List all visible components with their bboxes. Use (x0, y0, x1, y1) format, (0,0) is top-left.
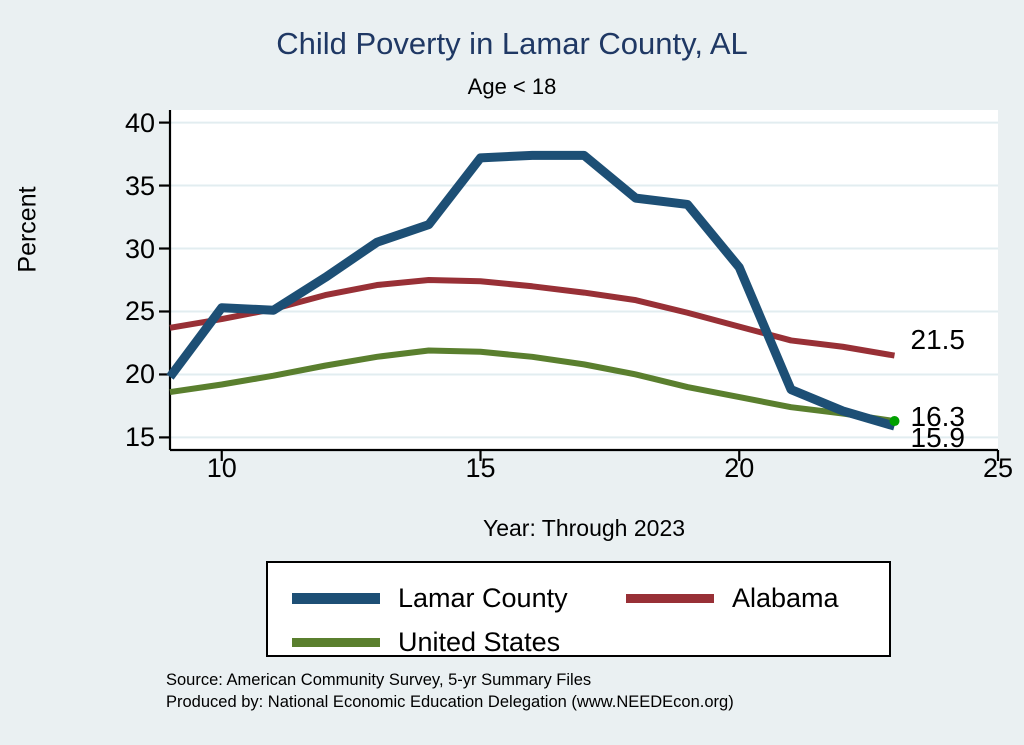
legend-swatch-alabama (626, 594, 714, 603)
source-line-1: Source: American Community Survey, 5-yr … (166, 670, 734, 692)
x-tick-label: 10 (182, 455, 262, 482)
legend-item-lamar-county[interactable]: Lamar County (292, 585, 568, 612)
x-axis-label: Year: Through 2023 (170, 515, 998, 542)
chart-figure: Child Poverty in Lamar County, AL Age < … (0, 0, 1024, 745)
y-tick-label: 35 (95, 173, 155, 200)
legend-label-lamar-county: Lamar County (398, 585, 568, 612)
y-tick-label: 15 (95, 424, 155, 451)
y-tick-label: 25 (95, 298, 155, 325)
x-tick-label: 15 (441, 455, 521, 482)
end-label-alabama: 21.5 (911, 326, 966, 354)
x-tick-label: 20 (699, 455, 779, 482)
x-tick-label: 25 (958, 455, 1024, 482)
endpoint-marker (890, 416, 900, 426)
legend-item-united-states[interactable]: United States (292, 629, 560, 656)
end-label-united-states: 16.3 (911, 403, 966, 431)
legend-item-alabama[interactable]: Alabama (626, 585, 839, 612)
legend-swatch-lamar-county (292, 593, 380, 604)
y-tick-label: 40 (95, 110, 155, 137)
legend-label-united-states: United States (398, 629, 560, 656)
source-note: Source: American Community Survey, 5-yr … (166, 670, 734, 714)
legend-swatch-united-states (292, 638, 380, 647)
y-tick-label: 30 (95, 236, 155, 263)
chart-legend: Lamar County Alabama United States (266, 561, 891, 657)
y-tick-label: 20 (95, 361, 155, 388)
legend-label-alabama: Alabama (732, 585, 839, 612)
source-line-2: Produced by: National Economic Education… (166, 692, 734, 714)
